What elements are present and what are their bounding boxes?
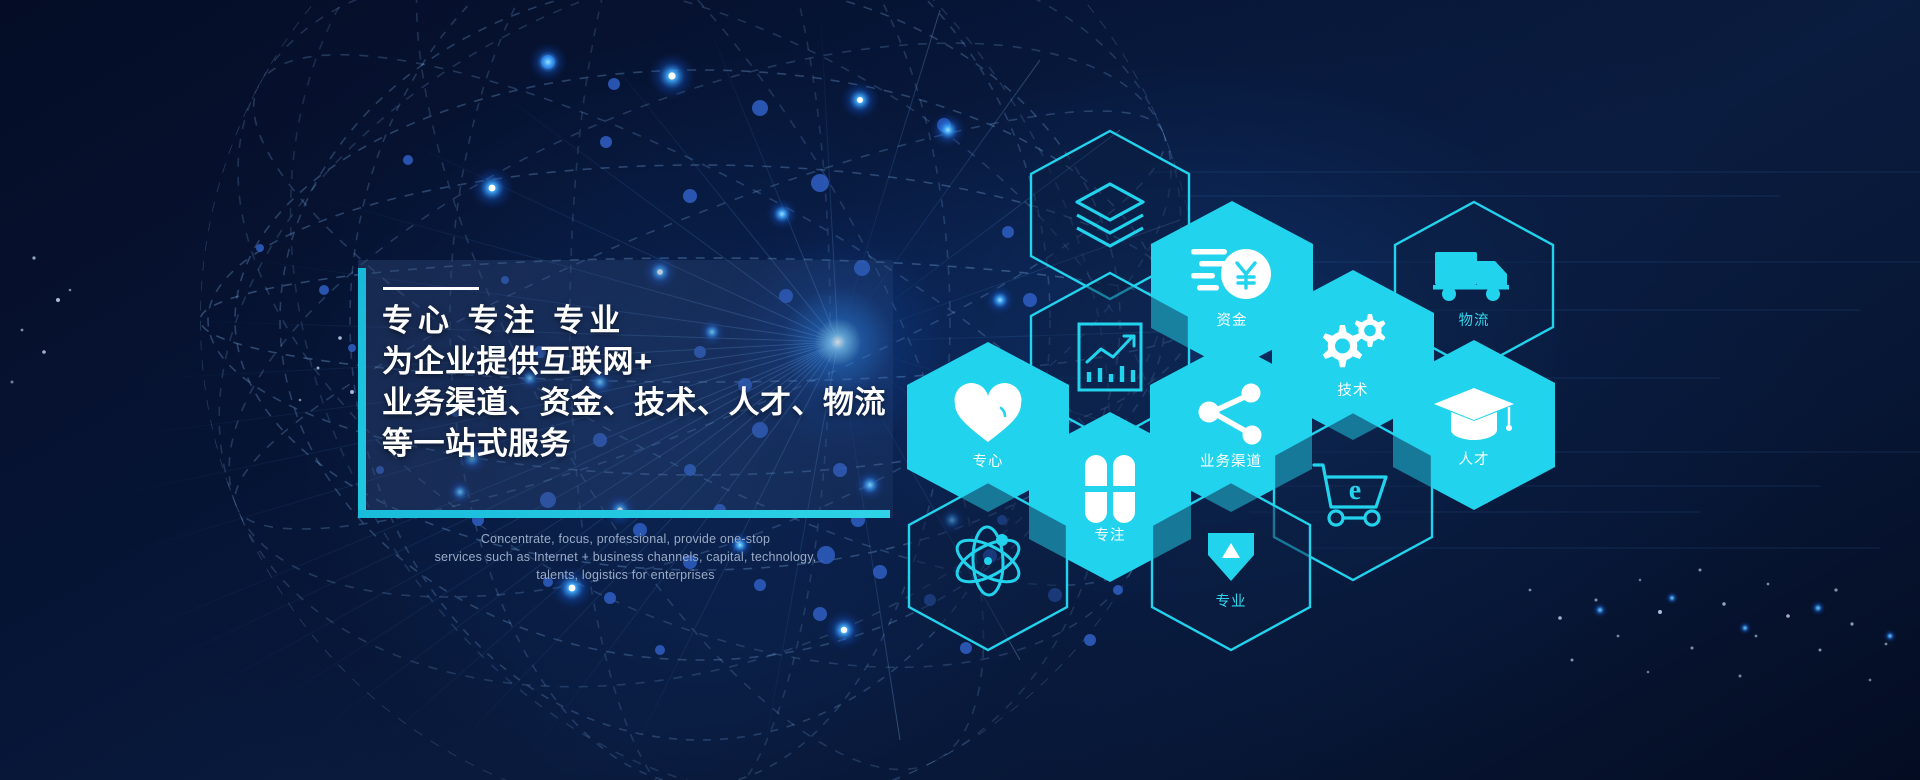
cart-e-letter: e	[1349, 475, 1361, 506]
banner-stage: 专心 专注 专业 为企业提供互联网+ 业务渠道、资金、技术、人才、物流 等一站式…	[0, 0, 1920, 780]
hex-professional-label: 专业	[1146, 590, 1316, 611]
hexagon-cluster: 资金 物流	[0, 0, 1920, 780]
hex-professional-shape	[1146, 479, 1316, 653]
hex-innovation[interactable]	[903, 479, 1073, 653]
hex-innovation-shape	[903, 479, 1073, 653]
hex-professional[interactable]: 专业	[1146, 479, 1316, 653]
